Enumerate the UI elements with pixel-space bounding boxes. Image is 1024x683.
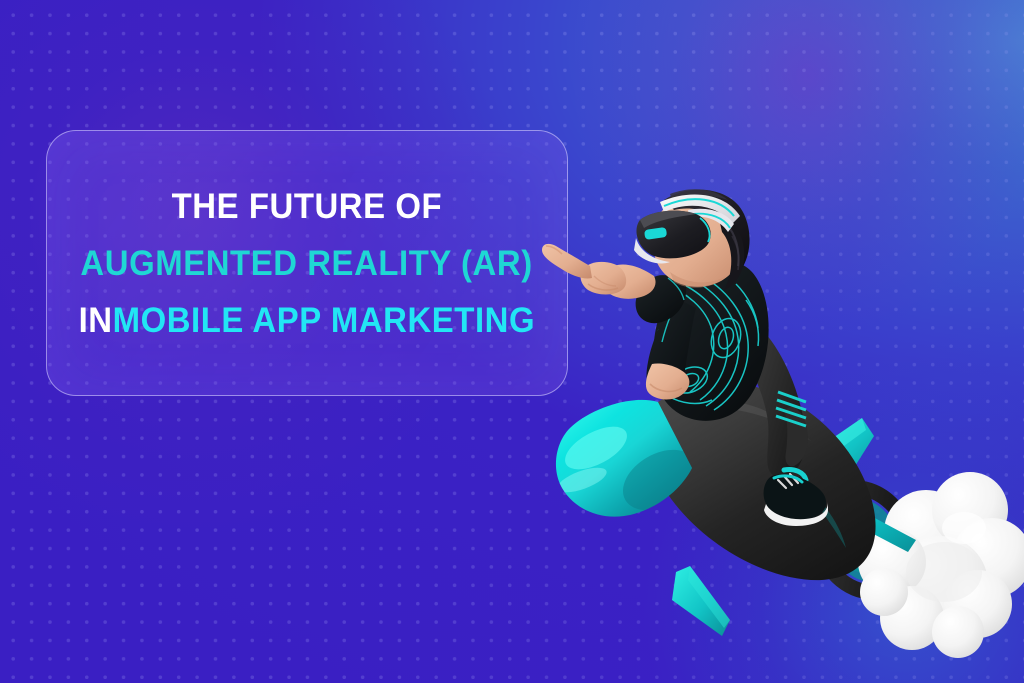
- title-line-3: INMOBILE APP MARKETING: [79, 303, 536, 338]
- banner-canvas: THE FUTURE OF AUGMENTED REALITY (AR) INM…: [0, 0, 1024, 683]
- title-line-3-prefix: IN: [79, 301, 113, 340]
- hero-illustration: [540, 180, 1024, 680]
- title-line-3-highlight: MOBILE APP MARKETING: [113, 301, 536, 340]
- title-line-1: THE FUTURE OF: [172, 189, 443, 224]
- title-card: THE FUTURE OF AUGMENTED REALITY (AR) INM…: [46, 130, 568, 396]
- title-line-2: AUGMENTED REALITY (AR): [81, 246, 533, 281]
- rocket-fin-bottom: [672, 566, 730, 636]
